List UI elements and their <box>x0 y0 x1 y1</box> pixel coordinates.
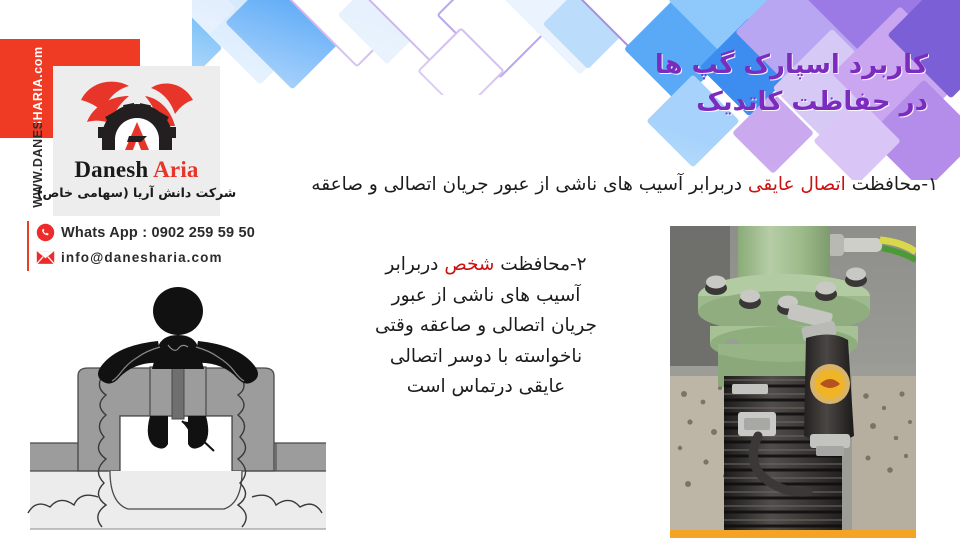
whatsapp-text: Whats App : 0902 259 59 50 <box>61 225 255 241</box>
red-accent-column <box>0 39 56 138</box>
contact-divider <box>27 221 29 271</box>
spark-gap-photo <box>670 226 916 538</box>
bullet1-highlight: اتصال عایقی <box>748 174 846 195</box>
contact-row-whatsapp[interactable]: Whats App : 0902 259 59 50 <box>36 220 296 245</box>
contact-row-email[interactable]: info@danesharia.com <box>36 245 296 270</box>
banner-square <box>225 0 359 90</box>
bullet1-suffix: دربرابر آسیب های ناشی از عبور جریان اتصا… <box>311 174 748 195</box>
bullet-item-1: ۱-محافظت اتصال عایقی دربرابر آسیب های نا… <box>238 171 938 199</box>
banner-square <box>276 0 437 68</box>
logo-subtitle: شرکت دانش آریا (سهامی خاص) <box>37 185 236 200</box>
logo-word-first: Danesh <box>74 157 148 182</box>
banner-square <box>417 27 505 115</box>
email-text: info@danesharia.com <box>61 250 223 265</box>
logo-wordmark: Danesh Aria <box>74 158 198 181</box>
banner-square <box>338 0 437 64</box>
bullet-item-2: ۲-محافظت شخص دربرابر آسیب های ناشی از عب… <box>367 250 605 403</box>
contact-block: Whats App : 0902 259 59 50 info@daneshar… <box>36 220 296 270</box>
danesh-aria-logo-icon <box>67 70 207 158</box>
logo-card: Danesh Aria شرکت دانش آریا (سهامی خاص) <box>53 66 220 216</box>
logo-word-second: Aria <box>153 157 199 182</box>
insulating-flange-illustration <box>0 283 356 540</box>
page-title-line1: کاربرد اسپارک گپ ها <box>508 47 928 84</box>
page-title-line2: در حفاظت کاتدیک <box>508 84 928 121</box>
spark-gap-photo-illustration <box>670 226 916 538</box>
insulating-flange-diagram: فلنج عایق <box>0 283 356 540</box>
bullet2-highlight: شخص <box>444 254 494 275</box>
bullet2-prefix: ۲-محافظت <box>494 254 586 275</box>
photo-bottom-bar <box>673 530 916 538</box>
whatsapp-icon <box>36 223 55 242</box>
page-title: کاربرد اسپارک گپ ها در حفاظت کاتدیک <box>508 47 928 121</box>
slide-canvas: WWW.DANESHARIA.com Danesh Aria شرکت دانش… <box>0 0 960 540</box>
bullet1-prefix: ۱-محافظت <box>846 174 938 195</box>
bullet2-rest: دربرابر آسیب های ناشی از عبور جریان اتصا… <box>375 254 597 397</box>
envelope-icon <box>36 248 55 267</box>
